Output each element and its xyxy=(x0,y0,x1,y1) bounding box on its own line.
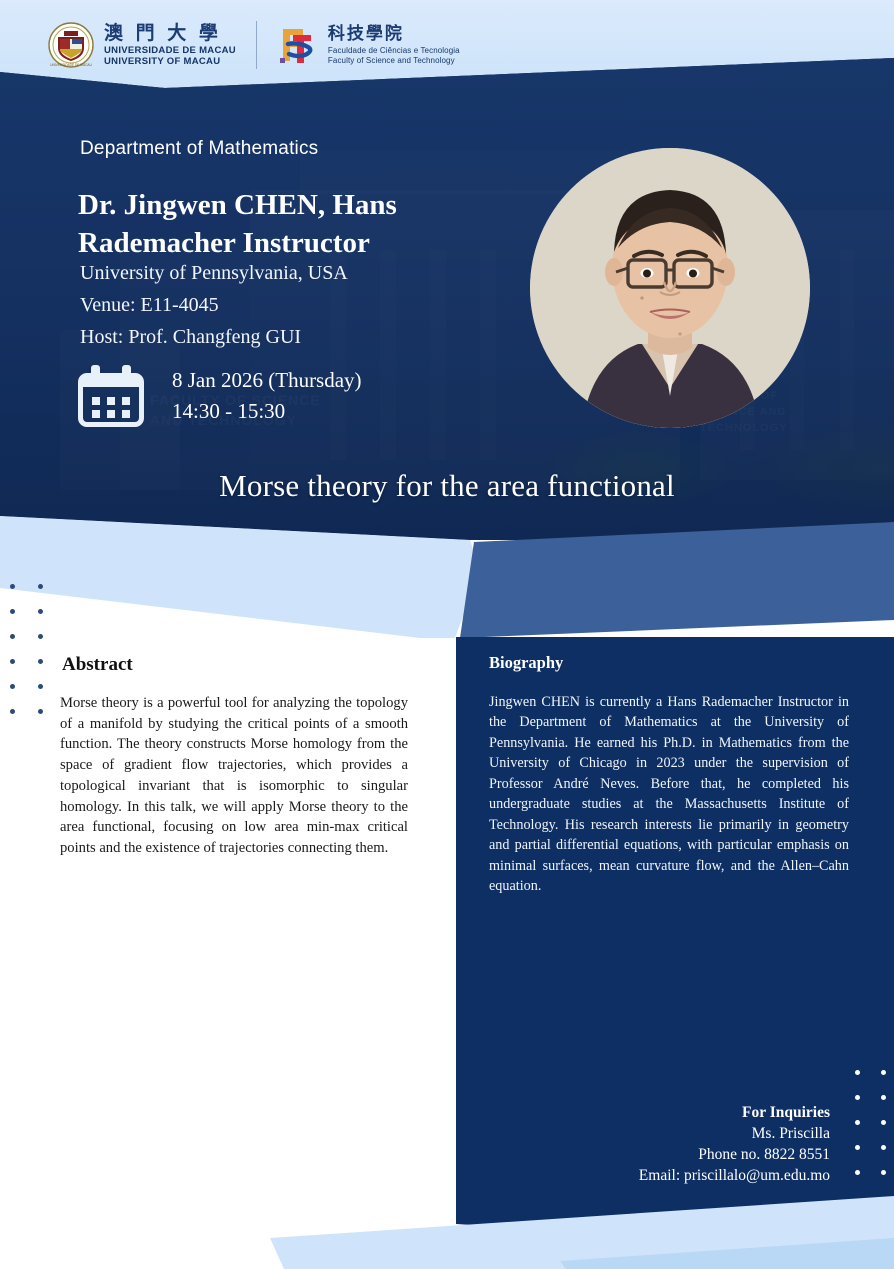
host-label: Host: Prof. Changfeng GUI xyxy=(80,326,301,349)
speaker-affiliation: University of Pennsylvania, USA xyxy=(80,262,348,285)
university-name-pt: UNIVERSIDADE DE MACAU xyxy=(104,46,236,56)
avatar xyxy=(530,148,810,428)
biography-body: Jingwen CHEN is currently a Hans Rademac… xyxy=(489,692,849,896)
faculty-name-cn: 科技學院 xyxy=(328,26,460,43)
faculty-name-pt: Faculdade de Ciências e Tecnologia xyxy=(328,47,460,55)
inquiries-email[interactable]: Email: priscillalo@um.edu.mo xyxy=(639,1165,830,1186)
inquiries-block: For Inquiries Ms. Priscilla Phone no. 88… xyxy=(639,1102,830,1186)
venue-label: Venue: E11-4045 xyxy=(80,294,219,317)
inquiries-contact-name: Ms. Priscilla xyxy=(639,1123,830,1144)
fst-monogram-icon xyxy=(277,23,319,67)
event-date: 8 Jan 2026 (Thursday) xyxy=(172,368,362,393)
abstract-heading: Abstract xyxy=(62,654,133,676)
hero-section: FACULTY OF SCIENCE AND TECHNOLOGY FACULT… xyxy=(0,0,894,580)
page-title: Morse theory for the area functional xyxy=(0,468,894,504)
university-name-cn: 澳 門 大 學 xyxy=(104,24,236,43)
university-name-en: UNIVERSITY OF MACAU xyxy=(104,57,236,67)
inquiries-phone: Phone no. 8822 8551 xyxy=(639,1144,830,1165)
logo-row: UNIVERSIDADE DE MACAU 澳 門 大 學 UNIVERSIDA… xyxy=(48,16,460,74)
speaker-name: Dr. Jingwen CHEN, Hans Rademacher Instru… xyxy=(78,186,498,263)
inquiries-title: For Inquiries xyxy=(639,1102,830,1123)
university-logo: UNIVERSIDADE DE MACAU 澳 門 大 學 UNIVERSIDA… xyxy=(48,22,236,68)
faculty-logo: 科技學院 Faculdade de Ciências e Tecnologia … xyxy=(277,23,460,67)
right-dot-grid xyxy=(855,1070,887,1200)
biography-heading: Biography xyxy=(489,653,563,673)
um-seal-icon: UNIVERSIDADE DE MACAU xyxy=(48,22,94,68)
department-label: Department of Mathematics xyxy=(80,138,318,160)
calendar-icon xyxy=(78,365,144,427)
abstract-body: Morse theory is a powerful tool for anal… xyxy=(60,693,408,859)
left-dot-grid xyxy=(10,584,46,714)
svg-text:UNIVERSIDADE DE MACAU: UNIVERSIDADE DE MACAU xyxy=(50,63,92,67)
event-time: 14:30 - 15:30 xyxy=(172,399,285,424)
logo-divider xyxy=(256,21,257,69)
poster-canvas: UNIVERSIDADE DE MACAU 澳 門 大 學 UNIVERSIDA… xyxy=(0,0,894,1269)
faculty-name-en: Faculty of Science and Technology xyxy=(328,57,460,65)
